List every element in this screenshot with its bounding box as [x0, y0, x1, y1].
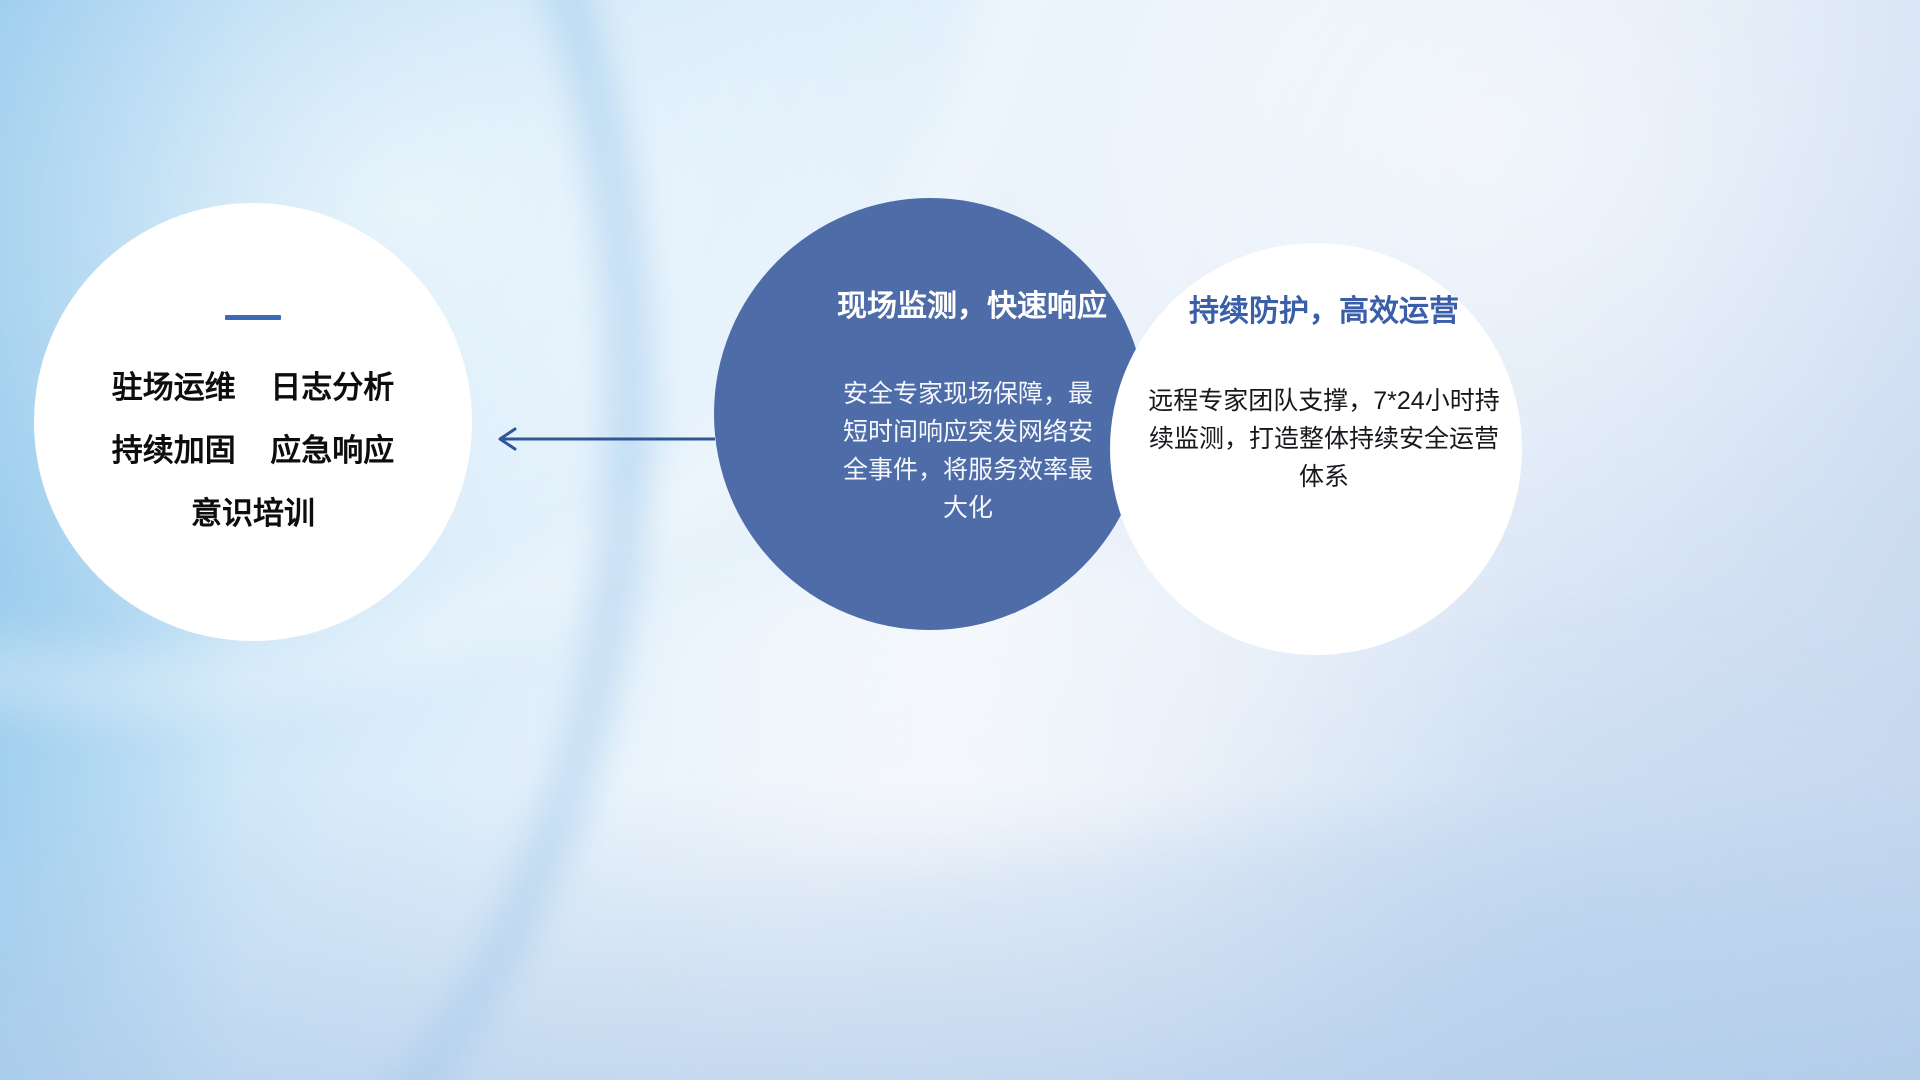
list-item: 持续加固 应急响应 [34, 435, 472, 466]
onsite-monitoring-circle[interactable]: 现场监测，快速响应 安全专家现场保障，最短时间响应突发网络安全事件，将服务效率最… [714, 198, 1146, 630]
continuous-protection-circle[interactable]: 持续防护，高效运营 远程专家团队支撑，7*24小时持续监测，打造整体持续安全运营… [1110, 243, 1522, 655]
list-item: 意识培训 [34, 498, 472, 529]
background-bottom-haze [0, 780, 1920, 1080]
onsite-monitoring-heading: 现场监测，快速响应 [837, 290, 1107, 323]
slide-canvas: 驻场运维 日志分析 持续加固 应急响应 意识培训 现场监测，快速响应 安全专家现… [0, 0, 1920, 1080]
onsite-monitoring-body: 安全专家现场保障，最短时间响应突发网络安全事件，将服务效率最大化 [834, 375, 1102, 527]
capability-list: 驻场运维 日志分析 持续加固 应急响应 意识培训 [34, 372, 472, 529]
service-capabilities-circle[interactable]: 驻场运维 日志分析 持续加固 应急响应 意识培训 [34, 203, 472, 641]
dash-divider-icon [225, 315, 281, 320]
list-item: 驻场运维 日志分析 [34, 372, 472, 403]
continuous-protection-heading: 持续防护，高效运营 [1189, 295, 1459, 328]
left-pointing-arrow-icon [487, 418, 717, 460]
continuous-protection-body: 远程专家团队支撑，7*24小时持续监测，打造整体持续安全运营体系 [1148, 382, 1500, 496]
